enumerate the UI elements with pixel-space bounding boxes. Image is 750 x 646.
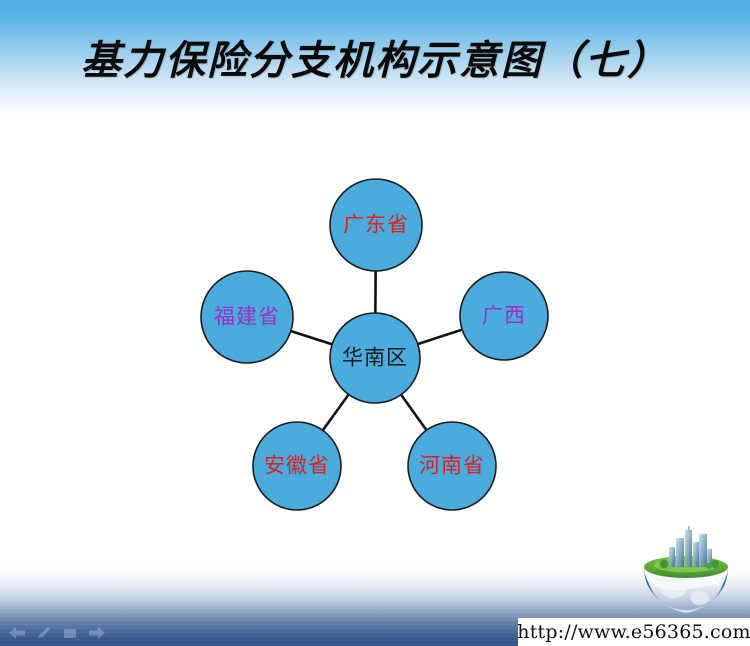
arrow-left-icon[interactable] <box>8 626 26 640</box>
watermark-url: http://www.e56365.com <box>518 618 750 646</box>
page-title: 基力保险分支机构示意图（七） <box>0 28 750 86</box>
presentation-slide: 基力保险分支机构示意图（七） 广东省广西福建省河南省安徽省华南区 <box>0 0 750 646</box>
arrow-right-icon[interactable] <box>88 626 106 640</box>
globe-city-logo <box>635 520 737 618</box>
continent-shape-2 <box>690 591 709 605</box>
slideshow-nav-controls[interactable] <box>8 626 106 640</box>
slide-canvas <box>0 118 750 580</box>
pen-icon[interactable] <box>36 626 52 640</box>
slide-icon[interactable] <box>62 626 78 640</box>
